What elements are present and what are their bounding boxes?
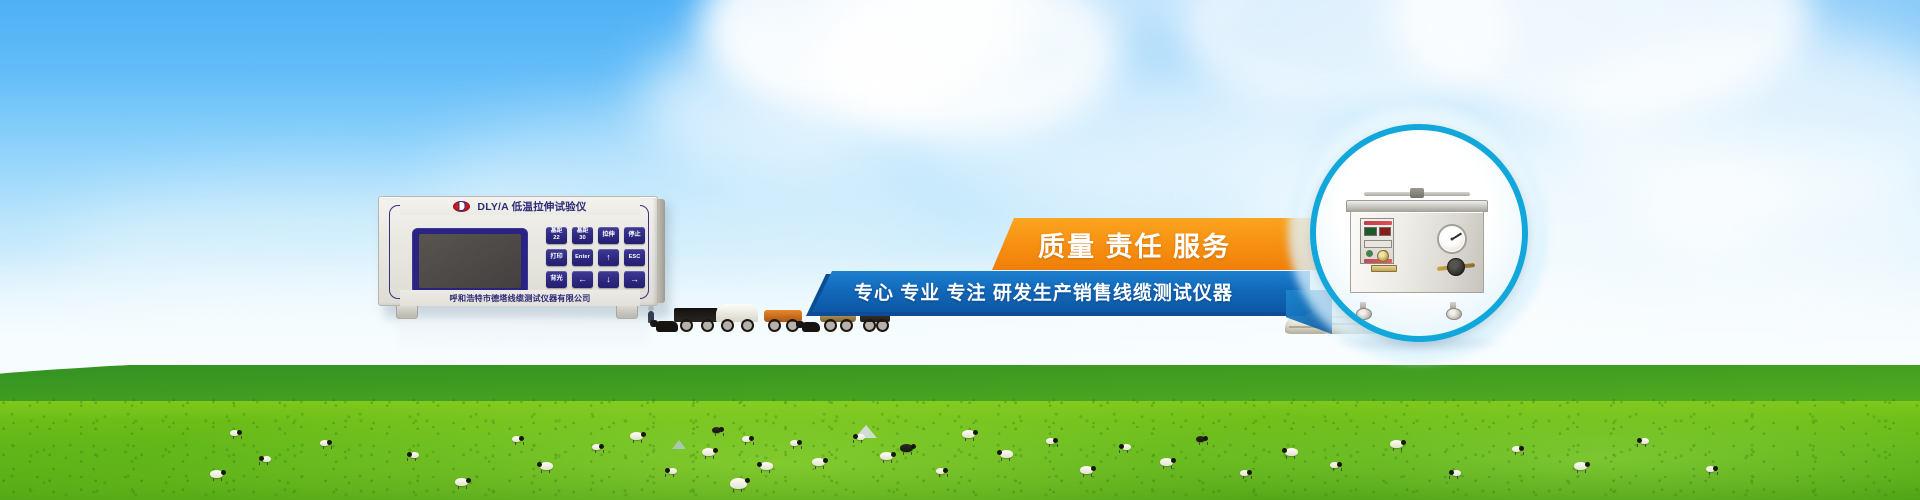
key-label: 拉伸 <box>602 232 614 238</box>
key-label: Enter <box>575 255 590 261</box>
test-chamber-machine <box>1346 186 1488 306</box>
arrow-up-icon: ↑ <box>606 253 611 262</box>
caster-wheel-left <box>1356 302 1370 318</box>
sheep-dark <box>900 444 913 452</box>
sheep <box>1000 450 1013 458</box>
sheep <box>410 452 419 458</box>
brass-port <box>1377 250 1389 262</box>
sheep <box>1122 444 1131 450</box>
cart <box>716 302 758 326</box>
sheep-dark <box>712 427 721 433</box>
sheep <box>1640 438 1649 444</box>
key-label: 打印 <box>550 254 562 260</box>
key-tingzhi[interactable]: 停止 <box>624 227 645 244</box>
product-inset-content <box>1316 130 1522 336</box>
caster-wheel-right <box>1446 302 1460 318</box>
name-plate <box>1371 265 1397 272</box>
key-jiju-22[interactable]: 基距 22 <box>546 227 567 244</box>
instrument-foot-right <box>616 306 638 319</box>
instrument-display-bezel <box>412 228 528 294</box>
secondary-slogan-text: 专心 专业 专注 研发生产销售线缆测试仪器 <box>854 278 1233 305</box>
sheep <box>630 432 643 440</box>
chamber-body <box>1350 211 1484 293</box>
key-jiju-30[interactable]: 基距 30 <box>572 227 593 244</box>
grass-texture <box>0 395 1920 500</box>
key-beiguang[interactable]: 背光 <box>546 271 567 288</box>
key-label: 停止 <box>628 232 640 238</box>
key-lashen[interactable]: 拉伸 <box>598 227 619 244</box>
primary-slogan-banner: 质量 责任 服务 <box>992 218 1318 270</box>
grassland <box>0 365 1920 500</box>
sheep <box>1046 438 1055 444</box>
key-enter[interactable]: Enter <box>572 249 593 266</box>
sheep <box>790 440 799 446</box>
sheep <box>1706 466 1715 472</box>
sheep <box>856 434 865 440</box>
arrow-down-icon: ↓ <box>606 275 611 284</box>
sheep <box>455 478 468 486</box>
key-label: ESC <box>629 255 641 261</box>
sheep <box>880 452 893 460</box>
sheep <box>1080 466 1093 474</box>
sheep <box>1285 448 1298 456</box>
key-left-arrow[interactable]: ← <box>572 271 593 288</box>
instrument-feet <box>378 306 665 320</box>
sheep <box>1330 462 1339 468</box>
secondary-slogan-banner: 专心 专业 专注 研发生产销售线缆测试仪器 <box>812 271 1310 312</box>
key-right-arrow[interactable]: → <box>624 271 645 288</box>
instrument-lcd-screen <box>419 234 521 288</box>
sheep <box>230 430 239 436</box>
sheep <box>540 462 553 470</box>
sheep <box>210 470 223 478</box>
key-line2: 22 <box>553 236 559 242</box>
sheep <box>592 444 601 450</box>
sheep <box>1574 462 1587 470</box>
sheep <box>742 436 751 442</box>
sheep <box>1160 458 1173 466</box>
temperature-display <box>1364 227 1377 236</box>
sheep <box>1390 440 1403 448</box>
distant-tent <box>672 440 686 449</box>
cart <box>674 306 718 326</box>
sheep <box>730 478 747 489</box>
sheep <box>812 458 825 466</box>
valve-knob <box>1447 258 1465 276</box>
instrument-footer-row: 呼和浩特市德塔线缆测试仪器有限公司 <box>400 290 640 306</box>
primary-slogan-text: 质量 责任 服务 <box>1038 225 1231 264</box>
company-logo-icon <box>453 201 470 212</box>
sheep-dark <box>1196 436 1205 442</box>
sheep <box>760 462 773 470</box>
sheep <box>1452 470 1461 476</box>
key-dayin[interactable]: 打印 <box>546 249 567 266</box>
power-knob-green <box>1366 250 1373 257</box>
sheep <box>1240 470 1249 476</box>
instrument-title-row: DLY/A 低温拉伸试验仪 <box>400 197 640 215</box>
sheep <box>262 456 271 462</box>
instrument-keypad[interactable]: 基距 22 基距 30 拉伸 停止 <box>546 227 645 288</box>
sheep <box>320 440 329 446</box>
pressure-gauge <box>1437 224 1467 254</box>
chamber-lid-handle <box>1364 188 1470 198</box>
instrument-reflection <box>398 320 648 354</box>
sheep <box>936 468 945 474</box>
setpoint-display <box>1379 227 1391 236</box>
sheep <box>1512 446 1521 452</box>
key-down-arrow[interactable]: ↓ <box>598 271 619 288</box>
instrument-foot-left <box>396 306 418 319</box>
hero-banner: DLY/A 低温拉伸试验仪 基距 22 基距 <box>0 0 1920 500</box>
control-brand-strip <box>1364 221 1392 225</box>
instrument-case: DLY/A 低温拉伸试验仪 基距 22 基距 <box>378 196 658 306</box>
instrument-company-name: 呼和浩特市德塔线缆测试仪器有限公司 <box>450 292 591 304</box>
key-line2: 30 <box>579 236 585 242</box>
key-label: 背光 <box>550 276 562 282</box>
arrow-right-icon: → <box>630 275 639 284</box>
sheep <box>702 448 715 456</box>
instrument-model-title: DLY/A 低温拉伸试验仪 <box>477 199 586 214</box>
instrument-front-panel: DLY/A 低温拉伸试验仪 基距 22 基距 <box>389 205 649 299</box>
arrow-left-icon: ← <box>578 275 587 284</box>
sheep <box>668 468 677 474</box>
key-up-arrow[interactable]: ↑ <box>598 249 619 266</box>
tensile-tester-instrument: DLY/A 低温拉伸试验仪 基距 22 基距 <box>378 196 664 314</box>
sheep <box>512 436 521 442</box>
control-button-row <box>1364 240 1392 248</box>
product-inset-circle[interactable] <box>1310 124 1528 342</box>
key-esc[interactable]: ESC <box>624 249 645 266</box>
sheep <box>962 430 975 438</box>
